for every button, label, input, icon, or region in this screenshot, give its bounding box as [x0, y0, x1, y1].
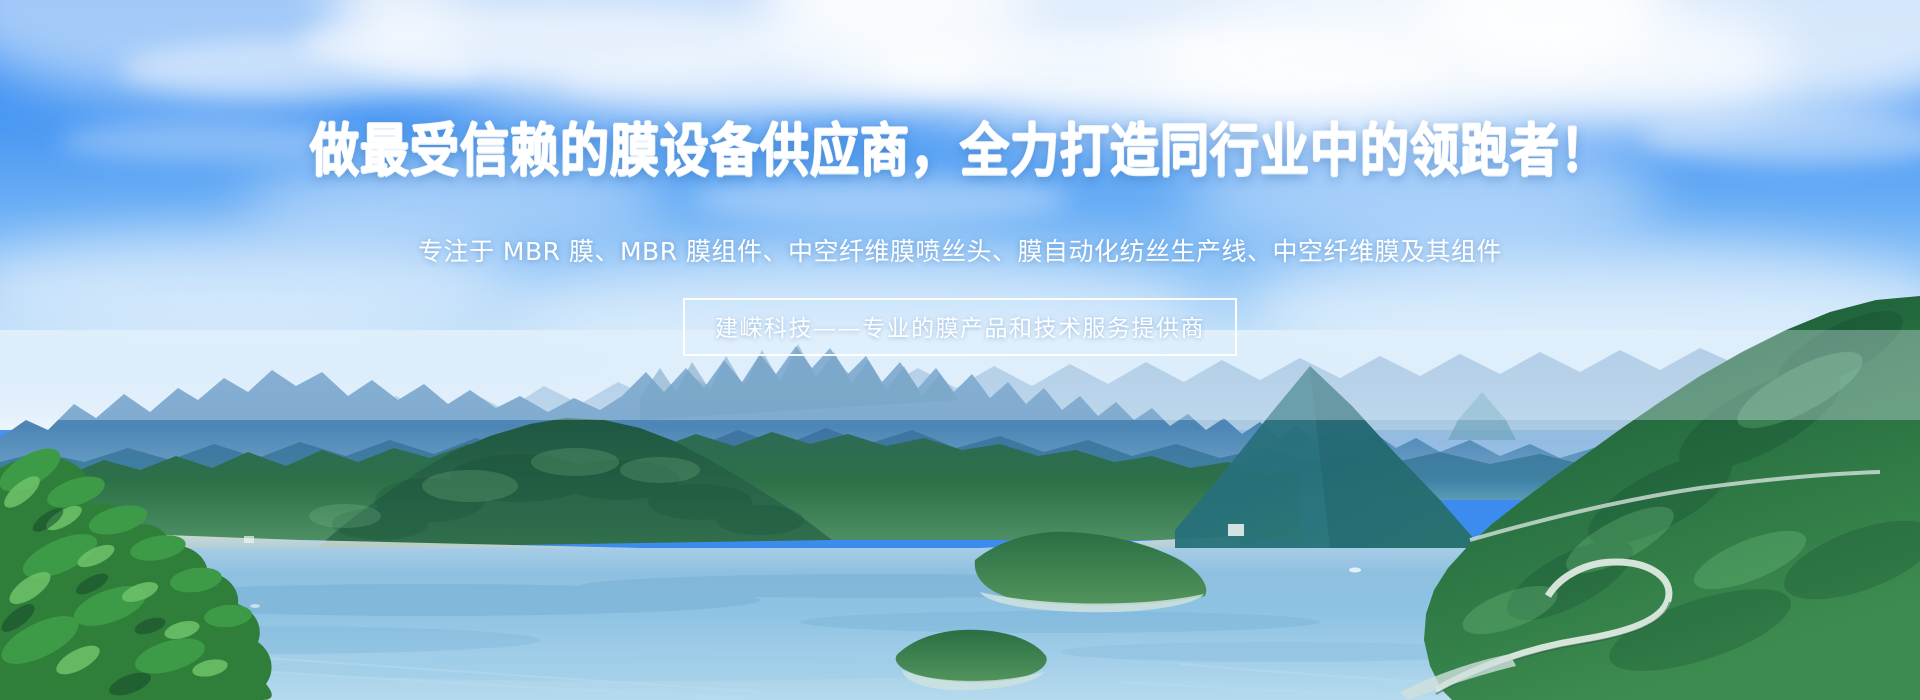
- banner-tagline-wrap: 建嵘科技——专业的膜产品和技术服务提供商: [0, 298, 1920, 356]
- boat-speck: [1349, 568, 1361, 573]
- far-building: [1228, 524, 1244, 536]
- banner-tagline: 建嵘科技——专业的膜产品和技术服务提供商: [683, 298, 1237, 356]
- banner-subline: 专注于 MBR 膜、MBR 膜组件、中空纤维膜喷丝头、膜自动化纺丝生产线、中空纤…: [0, 232, 1920, 268]
- boat-speck-2: [250, 604, 260, 608]
- banner-headline: 做最受信赖的膜设备供应商，全力打造同行业中的领跑者！: [0, 118, 1920, 185]
- far-building-2: [244, 536, 254, 543]
- hero-banner: 做最受信赖的膜设备供应商，全力打造同行业中的领跑者！ 专注于 MBR 膜、MBR…: [0, 0, 1920, 700]
